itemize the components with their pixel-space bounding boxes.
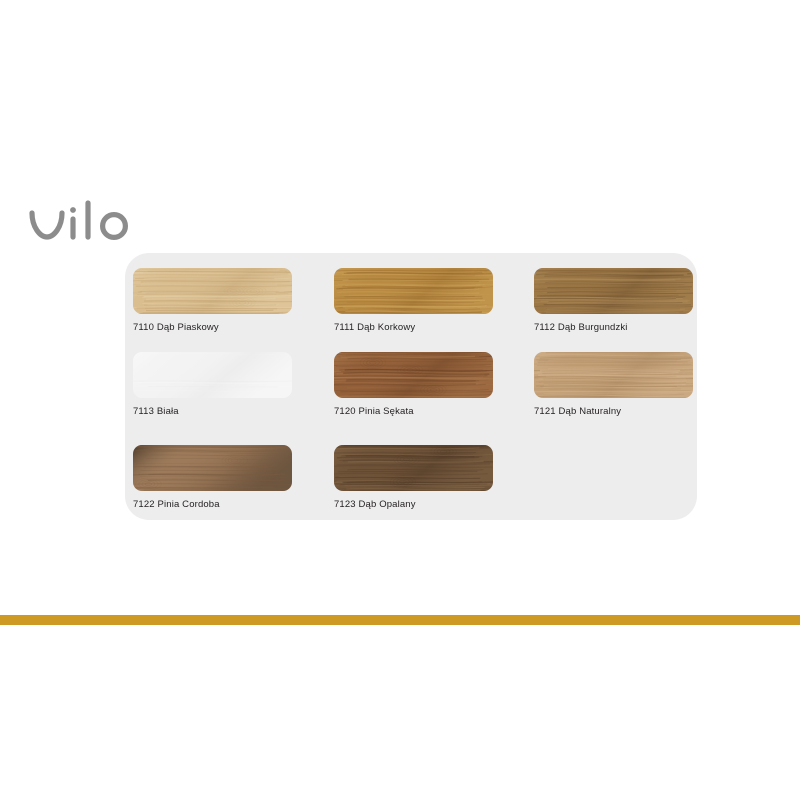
swatch-label-7113: 7113 Biała — [133, 406, 292, 418]
wood-grain-texture — [133, 445, 292, 491]
swatch-cell-7111[interactable]: 7111 Dąb Korkowy — [334, 268, 493, 334]
swatch-label-7122: 7122 Pinia Cordoba — [133, 499, 292, 511]
wood-grain-texture — [133, 268, 292, 314]
swatch-label-7111: 7111 Dąb Korkowy — [334, 322, 493, 334]
swatch-cell-7122[interactable]: 7122 Pinia Cordoba — [133, 445, 292, 511]
swatch-chip-7110[interactable] — [133, 268, 292, 314]
wood-grain-texture — [534, 352, 693, 398]
swatch-chip-7121[interactable] — [534, 352, 693, 398]
swatch-chip-7122[interactable] — [133, 445, 292, 491]
swatch-cell-7120[interactable]: 7120 Pinia Sękata — [334, 352, 493, 418]
swatch-chip-7111[interactable] — [334, 268, 493, 314]
wood-grain-texture — [334, 445, 493, 491]
gold-accent-bar — [0, 615, 800, 625]
wood-grain-texture — [534, 268, 693, 314]
wood-grain-texture — [334, 268, 493, 314]
brand-logo — [26, 197, 146, 249]
swatch-label-7120: 7120 Pinia Sękata — [334, 406, 493, 418]
swatch-chip-7113[interactable] — [133, 352, 292, 398]
swatch-chip-7120[interactable] — [334, 352, 493, 398]
swatch-cell-7121[interactable]: 7121 Dąb Naturalny — [534, 352, 693, 418]
swatch-label-7121: 7121 Dąb Naturalny — [534, 406, 693, 418]
swatch-chip-7123[interactable] — [334, 445, 493, 491]
swatch-label-7112: 7112 Dąb Burgundzki — [534, 322, 693, 334]
swatch-label-7110: 7110 Dąb Piaskowy — [133, 322, 292, 334]
swatch-cell-7110[interactable]: 7110 Dąb Piaskowy — [133, 268, 292, 334]
swatch-chip-7112[interactable] — [534, 268, 693, 314]
swatch-panel: 7110 Dąb Piaskowy7111 Dąb Korkowy7112 Dą… — [125, 253, 697, 520]
swatch-cell-7123[interactable]: 7123 Dąb Opalany — [334, 445, 493, 511]
swatch-grid: 7110 Dąb Piaskowy7111 Dąb Korkowy7112 Dą… — [125, 253, 697, 520]
swatch-cell-7113[interactable]: 7113 Biała — [133, 352, 292, 418]
swatch-label-7123: 7123 Dąb Opalany — [334, 499, 493, 511]
swatch-cell-7112[interactable]: 7112 Dąb Burgundzki — [534, 268, 693, 334]
wood-grain-texture — [133, 352, 292, 398]
wood-grain-texture — [334, 352, 493, 398]
